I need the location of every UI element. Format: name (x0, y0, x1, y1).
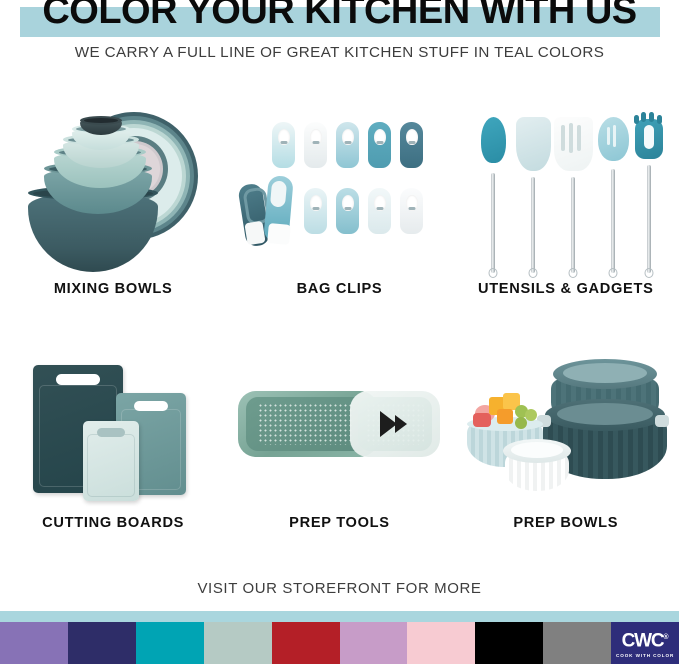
cutting-boards-illustration (6, 343, 220, 503)
product-card-mixing-bowls[interactable]: MIXING BOWLS (0, 96, 226, 297)
swatch-red (272, 622, 340, 664)
listing-image: COLOR YOUR KITCHEN WITH US WE CARRY A FU… (0, 0, 679, 664)
swatch-teal (136, 622, 204, 664)
swatch-purple (0, 622, 68, 664)
swatch-pink (407, 622, 475, 664)
product-label: PREP TOOLS (289, 515, 390, 531)
product-card-bag-clips[interactable]: BAG CLIPS (226, 96, 452, 297)
utensils-gadgets-illustration (459, 96, 673, 281)
product-card-prep-tools[interactable]: PREP TOOLS (226, 343, 452, 531)
swatch-gray (543, 622, 611, 664)
color-swatch-bar: CWC® COOK WITH COLOR (0, 622, 679, 664)
registered-mark-icon: ® (663, 634, 668, 641)
storefront-cta[interactable]: VISIT OUR STOREFRONT FOR MORE (0, 580, 679, 597)
bag-clips-illustration (232, 96, 446, 281)
swatch-navy (68, 622, 136, 664)
product-label: CUTTING BOARDS (42, 515, 184, 531)
logo-mark: CWC® (622, 628, 669, 650)
brand-logo[interactable]: CWC® COOK WITH COLOR (611, 622, 679, 664)
header: COLOR YOUR KITCHEN WITH US WE CARRY A FU… (0, 0, 679, 80)
swatch-sage (204, 622, 272, 664)
product-card-cutting-boards[interactable]: CUTTING BOARDS (0, 343, 226, 531)
mixing-bowls-illustration (6, 96, 220, 281)
product-card-prep-bowls[interactable]: PREP BOWLS (453, 343, 679, 531)
swatch-black (475, 622, 543, 664)
page-title: COLOR YOUR KITCHEN WITH US (0, 0, 679, 32)
prep-tools-illustration (232, 343, 446, 503)
product-row-2: CUTTING BOARDS PREP TOOLS (0, 343, 679, 531)
swatch-orchid (340, 622, 408, 664)
product-label: BAG CLIPS (297, 281, 383, 297)
prep-bowls-illustration (459, 343, 673, 503)
product-label: MIXING BOWLS (54, 281, 173, 297)
logo-tagline: COOK WITH COLOR (616, 653, 674, 658)
logo-mark-text: CWC (622, 631, 664, 652)
footer-teal-strip (0, 611, 679, 622)
product-row-1: MIXING BOWLS (0, 96, 679, 297)
product-label: PREP BOWLS (513, 515, 618, 531)
product-card-utensils-gadgets[interactable]: UTENSILS & GADGETS (453, 96, 679, 297)
product-grid: MIXING BOWLS (0, 96, 679, 531)
product-label: UTENSILS & GADGETS (478, 281, 654, 297)
page-subtitle: WE CARRY A FULL LINE OF GREAT KITCHEN ST… (0, 44, 679, 61)
